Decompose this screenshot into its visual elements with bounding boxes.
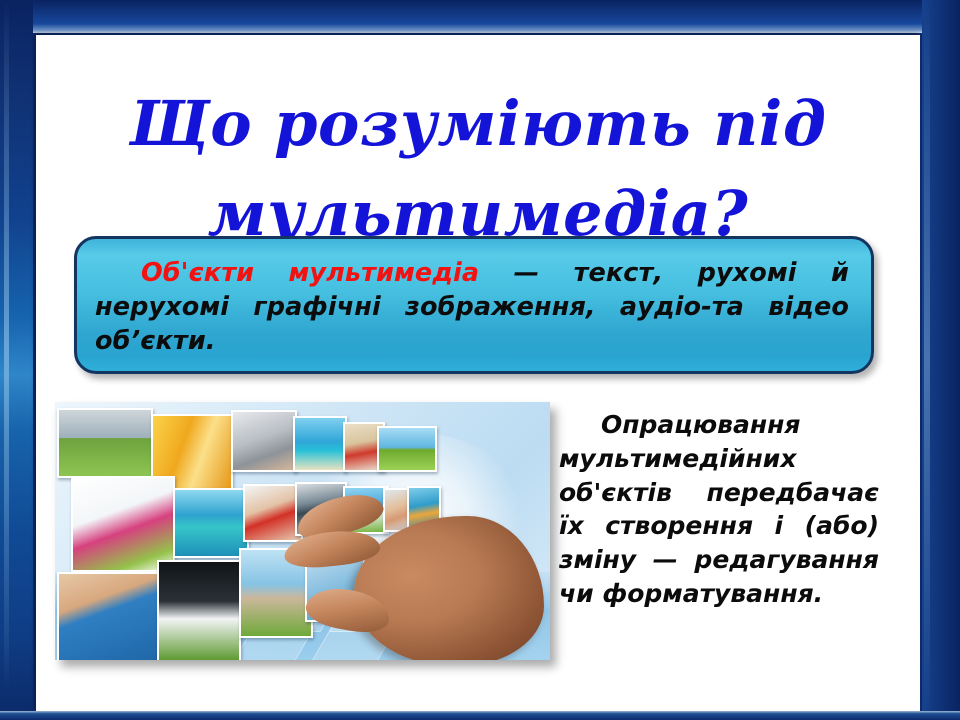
body-paragraph: Опрацювання мультимедійних об'єктів пере… xyxy=(559,408,879,611)
collage-thumb xyxy=(293,416,347,472)
frame-right-highlight xyxy=(924,0,930,720)
collage-thumb xyxy=(71,476,175,572)
collage-thumb xyxy=(243,484,303,542)
collage-thumb xyxy=(377,426,437,472)
callout-term: Об'єкти мультимедіа xyxy=(141,258,479,288)
collage-thumb xyxy=(57,408,153,478)
frame-left-highlight xyxy=(4,0,9,720)
frame-bottom-band xyxy=(0,711,960,720)
collage-thumb xyxy=(173,488,249,558)
multimedia-collage-image xyxy=(55,402,550,660)
frame-top-band xyxy=(0,0,960,33)
slide-title: Що розуміють під мультимедіа? xyxy=(76,79,880,260)
callout-box: Об'єкти мультимедіа — текст, рухомі й не… xyxy=(74,236,874,374)
collage-thumb xyxy=(157,560,241,660)
callout-paragraph: Об'єкти мультимедіа — текст, рухомі й не… xyxy=(95,257,849,359)
slide-canvas: Що розуміють під мультимедіа? Об'єкти му… xyxy=(36,35,920,711)
slide: Що розуміють під мультимедіа? Об'єкти му… xyxy=(0,0,960,720)
definition-callout: Об'єкти мультимедіа — текст, рухомі й не… xyxy=(74,236,874,374)
collage-thumb xyxy=(231,410,297,472)
collage-thumb xyxy=(57,572,159,660)
